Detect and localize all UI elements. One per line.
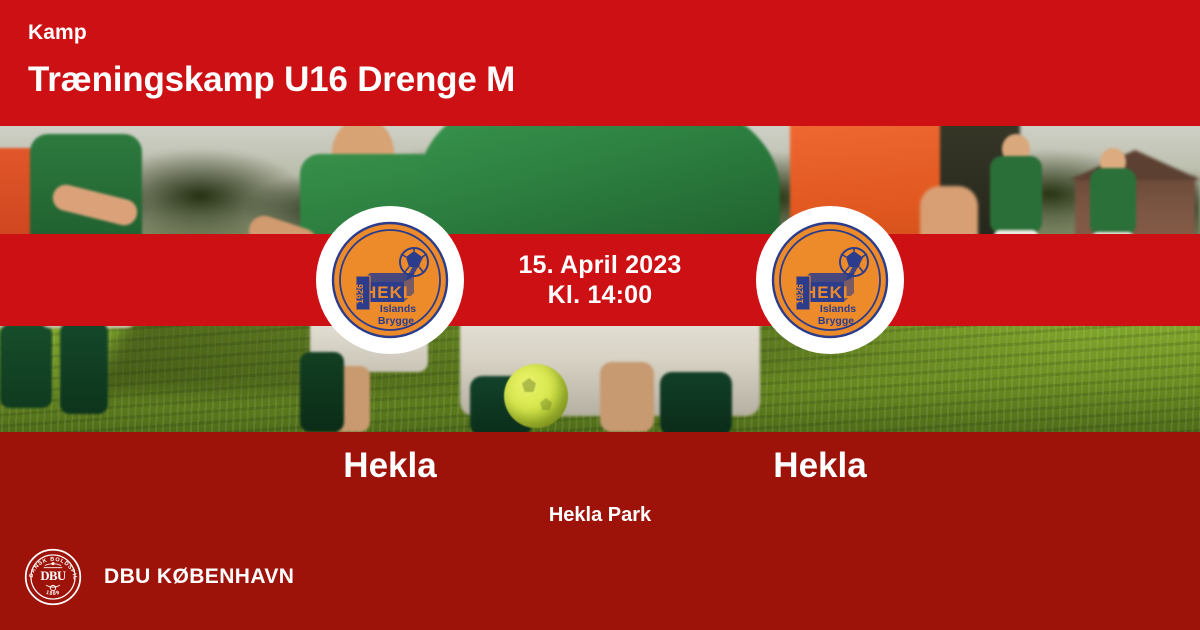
photo-player-foreground-sock-right (660, 372, 732, 432)
photo-player-foreground-shin (600, 362, 654, 432)
crest-location-line1: Islands (380, 303, 416, 315)
photo-player-orange-left-socks (0, 324, 52, 408)
match-date: 15. April 2023 (518, 250, 681, 281)
crest-founded-year: 1926 (795, 284, 805, 304)
poster-header: Kamp Træningskamp U16 Drenge M (0, 0, 1200, 126)
organisation-footer: DANSK BOLDSPIL UNION 1889 DBU DBU KØBENH… (24, 548, 294, 606)
crest-founded-year: 1926 (355, 284, 365, 304)
home-team-name: Hekla (210, 448, 570, 483)
away-team-name: Hekla (640, 448, 1000, 483)
crest-location-line2: Brygge (378, 315, 414, 327)
photo-player-far-right-torso (1090, 168, 1136, 236)
away-team-crest: HEKL 1926 Islands Brygge (756, 206, 904, 354)
home-team-crest: HEKL 1926 Islands Brygge (316, 206, 464, 354)
football-icon (504, 364, 568, 428)
crest-location-line2: Brygge (818, 315, 854, 327)
match-time: Kl. 14:00 (548, 280, 653, 311)
svg-text:DBU: DBU (40, 569, 66, 583)
photo-player-far-left-torso (990, 156, 1042, 234)
header-kicker: Kamp (28, 22, 1200, 43)
hekla-crest-icon: HEKL 1926 Islands Brygge (770, 220, 890, 340)
svg-text:HEKL: HEKL (804, 283, 854, 302)
photo-player-green-left-socks (60, 322, 108, 414)
dbu-seal-icon: DANSK BOLDSPIL UNION 1889 DBU (24, 548, 82, 606)
match-poster: Kamp Træningskamp U16 Drenge M (0, 0, 1200, 630)
hekla-crest-icon: HEKL 1926 Islands Brygge (330, 220, 450, 340)
organisation-name: DBU KØBENHAVN (104, 565, 294, 589)
page-title: Træningskamp U16 Drenge M (28, 62, 1200, 97)
svg-text:HEKL: HEKL (364, 283, 414, 302)
venue-name: Hekla Park (0, 504, 1200, 527)
crest-location-line1: Islands (820, 303, 856, 315)
match-datetime-banner: 15. April 2023 Kl. 14:00 (0, 234, 1200, 326)
photo-player-mid-sock (300, 352, 344, 432)
